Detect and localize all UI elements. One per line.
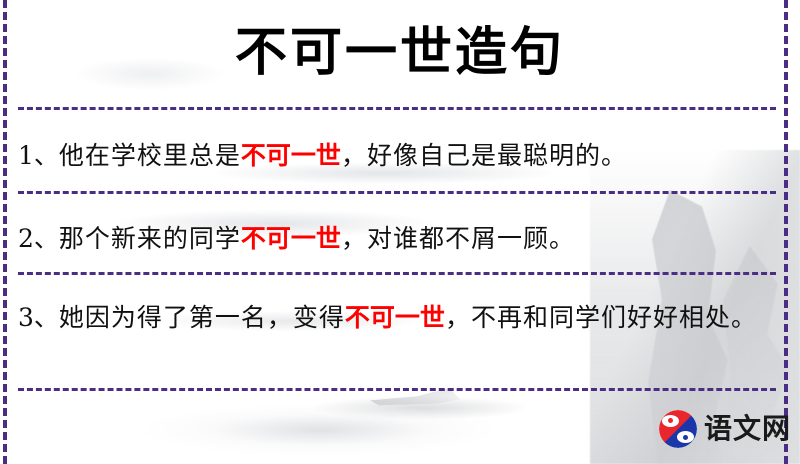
keyword-highlight-2: 不可一世 (241, 224, 341, 253)
dashed-separator-2 (18, 191, 776, 194)
dashed-separator-1 (18, 107, 776, 110)
page-title: 不可一世造句 (0, 22, 800, 84)
dashed-separator-4 (18, 388, 776, 391)
worksheet-page: 不可一世造句 1、他在学校里总是不可一世，好像自己是最聪明的。 2、那个新来的同… (0, 0, 800, 464)
sentence-number-1: 1、 (18, 141, 59, 170)
site-logo[interactable]: 语文网 (659, 410, 791, 448)
sentence-row-2: 2、那个新来的同学不可一世，对谁都不屑一顾。 (18, 217, 770, 261)
keyword-highlight-3: 不可一世 (345, 303, 445, 332)
site-logo-text: 语文网 (704, 415, 791, 443)
sentence-row-1: 1、他在学校里总是不可一世，好像自己是最聪明的。 (18, 134, 770, 178)
yinyang-fish-icon (659, 410, 697, 448)
sentence-number-2: 2、 (18, 224, 59, 253)
keyword-highlight-1: 不可一世 (241, 141, 341, 170)
sentence-text-before-1: 他在学校里总是 (59, 141, 241, 170)
sentence-text-before-3: 她因为得了第一名，变得 (59, 303, 345, 332)
sentence-number-3: 3、 (18, 303, 59, 332)
sentence-text-after-3: ，不再和同学们好好相处。 (445, 303, 757, 332)
sentence-text-after-2: ，对谁都不屑一顾。 (341, 224, 575, 253)
sentence-text-after-1: ，好像自己是最聪明的。 (341, 141, 627, 170)
dashed-separator-3 (18, 272, 776, 275)
sentence-text-before-2: 那个新来的同学 (59, 224, 241, 253)
sentence-row-3: 3、她因为得了第一名，变得不可一世，不再和同学们好好相处。 (18, 296, 770, 340)
